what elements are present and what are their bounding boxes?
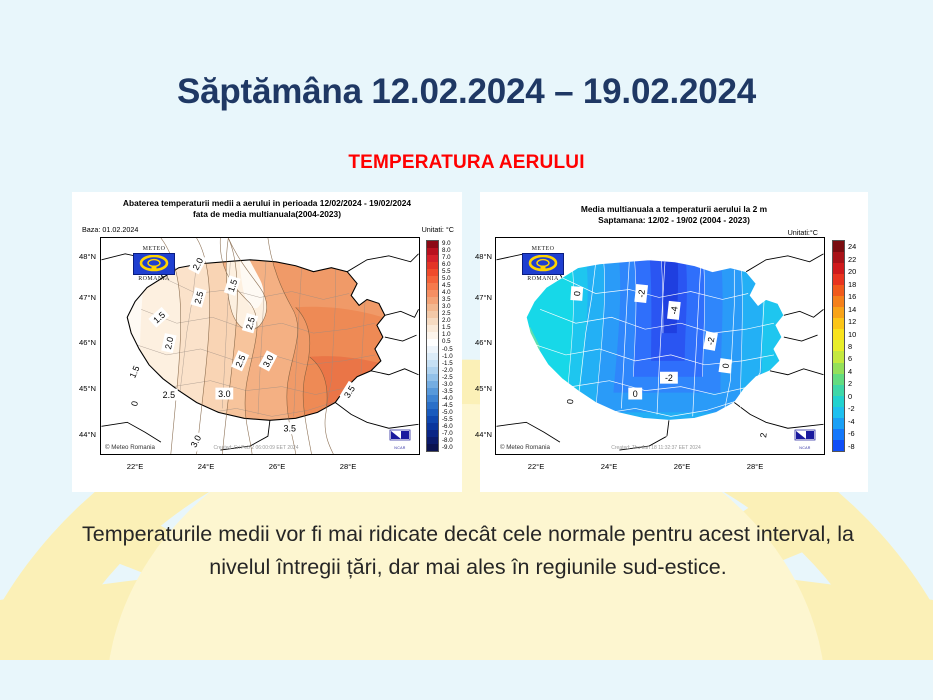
- colorbar-tick-label: -0.5: [442, 347, 453, 353]
- contour-label: 3.0: [218, 389, 230, 399]
- colorbar-swatch: [833, 385, 844, 396]
- colorbar-swatch: [427, 444, 438, 451]
- colorbar-swatch: [427, 248, 438, 255]
- colorbar-tick-label: 9.0: [442, 241, 451, 247]
- contour-label: 3.5: [284, 424, 296, 434]
- axis-y-tick-47n: 47°N: [464, 293, 492, 302]
- ncar-label: NCAR: [387, 446, 413, 450]
- logo-emblem-icon: [526, 255, 560, 273]
- colorbar-swatch: [833, 307, 844, 318]
- colorbar-tick-label: 7.0: [442, 255, 451, 261]
- colorbar-swatch: [427, 402, 438, 409]
- colorbar-swatch: [833, 374, 844, 385]
- colorbar-swatch: [833, 440, 844, 451]
- logo-emblem: [522, 253, 564, 275]
- map-created-right: Created: Thu Jan 18 11:32:37 EET 2024: [495, 445, 820, 451]
- colorbar-left: 9.08.07.06.05.55.04.54.03.53.02.52.01.51…: [426, 240, 466, 452]
- colorbar-swatch: [427, 409, 438, 416]
- colorbar-swatch: [427, 374, 438, 381]
- colorbar-tick-label: 16: [848, 293, 856, 300]
- colorbar-swatch: [833, 285, 844, 296]
- colorbar-swatch: [833, 351, 844, 362]
- axis-y-tick-45n: 45°N: [72, 384, 96, 393]
- contour-label: 0: [633, 389, 638, 399]
- contour-label: -2: [665, 373, 673, 383]
- colorbar-swatch: [833, 396, 844, 407]
- axis-x-tick-28e: 28°E: [333, 462, 363, 471]
- slide-caption: Temperaturile medii vor fi mai ridicate …: [78, 518, 858, 585]
- colorbar-tick-label: 14: [848, 306, 856, 313]
- colorbar-swatch: [833, 363, 844, 374]
- axis-y-tick-48n: 48°N: [72, 252, 96, 261]
- colorbar-tick-label: -2: [848, 405, 855, 412]
- colorbar-strip-left: [426, 240, 439, 452]
- colorbar-swatch: [427, 360, 438, 367]
- colorbar-tick-label: -6: [848, 430, 855, 437]
- colorbar-tick-label: -8: [848, 443, 855, 450]
- meteo-romania-logo: METEO ROMANIA: [516, 246, 570, 282]
- ncar-label: NCAR: [792, 446, 818, 450]
- figure-right-title-line1: Media multianuala a temperaturii aerului…: [480, 204, 868, 215]
- axis-x-tick-24e: 24°E: [191, 462, 221, 471]
- figure-left-baza: Baza: 01.02.2024: [82, 225, 138, 234]
- colorbar-swatch: [427, 325, 438, 332]
- logo-top-label: METEO: [516, 246, 570, 252]
- map-plot-area-left: 2.0 1.5 2.5 1.5: [100, 237, 420, 455]
- colorbar-tick-label: 20: [848, 268, 856, 275]
- colorbar-swatch: [427, 367, 438, 374]
- colorbar-swatch: [427, 304, 438, 311]
- axis-x-tick-24e: 24°E: [594, 462, 624, 471]
- axis-y-tick-46n: 46°N: [464, 338, 492, 347]
- axis-y-tick-44n: 44°N: [464, 430, 492, 439]
- colorbar-swatch: [427, 255, 438, 262]
- contour-label: 2.5: [163, 390, 175, 400]
- colorbar-tick-label: 22: [848, 256, 856, 263]
- colorbar-swatch: [427, 423, 438, 430]
- colorbar-right: 242220181614121086420-2-4-6-8: [832, 240, 868, 452]
- figure-right-title-line2: Saptamana: 12/02 - 19/02 (2004 - 2023): [480, 215, 868, 226]
- colorbar-tick-label: -9.0: [442, 445, 453, 451]
- figure-right-title: Media multianuala a temperaturii aerului…: [480, 204, 868, 226]
- axis-x-tick-26e: 26°E: [667, 462, 697, 471]
- colorbar-strip-right: [832, 240, 845, 452]
- figure-left-units: Unitati: °C: [422, 225, 454, 234]
- colorbar-swatch: [427, 276, 438, 283]
- figure-left-title: Abaterea temperaturii medii a aerului in…: [72, 198, 462, 220]
- colorbar-swatch: [427, 353, 438, 360]
- ncar-icon: [389, 429, 411, 441]
- colorbar-tick-label: -4: [848, 418, 855, 425]
- colorbar-swatch: [427, 416, 438, 423]
- colorbar-swatch: [427, 430, 438, 437]
- colorbar-swatch: [427, 269, 438, 276]
- colorbar-swatch: [427, 283, 438, 290]
- logo-bottom-label: ROMANIA: [516, 276, 570, 282]
- colorbar-tick-label: 12: [848, 318, 856, 325]
- colorbar-swatch: [833, 318, 844, 329]
- axis-y-tick-45n: 45°N: [464, 384, 492, 393]
- colorbar-tick-label: 4: [848, 368, 852, 375]
- colorbar-tick-label: 2: [848, 380, 852, 387]
- colorbar-tick-label: -1.0: [442, 354, 453, 360]
- colorbar-swatch: [427, 388, 438, 395]
- colorbar-swatch: [833, 407, 844, 418]
- map-plot-area-right: 0 -2 -4 -2 0: [495, 237, 825, 455]
- colorbar-tick-label: 0.5: [442, 339, 451, 345]
- colorbar-swatch: [427, 241, 438, 248]
- figure-anomaly-map: Abaterea temperaturii medii a aerului in…: [72, 192, 462, 492]
- colorbar-swatch: [427, 339, 438, 346]
- figure-climatology-map: Media multianuala a temperaturii aerului…: [480, 192, 868, 492]
- colorbar-swatch: [427, 311, 438, 318]
- logo-emblem-icon: [137, 255, 171, 273]
- axis-y-tick-47n: 47°N: [72, 293, 96, 302]
- colorbar-tick-label: 8.0: [442, 248, 451, 254]
- colorbar-tick-label: 24: [848, 243, 856, 250]
- colorbar-labels-left: 9.08.07.06.05.55.04.54.03.53.02.52.01.51…: [442, 240, 466, 452]
- axis-y-tick-48n: 48°N: [464, 252, 492, 261]
- colorbar-tick-label: -2.0: [442, 368, 453, 374]
- page-title: Săptămâna 12.02.2024 – 19.02.2024: [0, 72, 933, 112]
- contour-label: -4: [669, 306, 680, 315]
- colorbar-swatch: [427, 262, 438, 269]
- meteo-romania-logo: METEO ROMANIA: [127, 246, 181, 282]
- axis-x-tick-22e: 22°E: [120, 462, 150, 471]
- ncar-logo-left: NCAR: [387, 428, 413, 450]
- colorbar-tick-label: 10: [848, 331, 856, 338]
- slide-subtitle: TEMPERATURA AERULUI: [0, 152, 933, 174]
- axis-x-tick-28e: 28°E: [740, 462, 770, 471]
- colorbar-swatch: [833, 252, 844, 263]
- colorbar-swatch: [833, 241, 844, 252]
- colorbar-swatch: [833, 296, 844, 307]
- map-created-left: Created: Fri Feb 2 06:00:09 EET 2024: [100, 445, 415, 451]
- figure-left-title-line2: fata de media multianuala(2004-2023): [72, 209, 462, 220]
- colorbar-swatch: [427, 437, 438, 444]
- colorbar-swatch: [833, 329, 844, 340]
- colorbar-swatch: [427, 395, 438, 402]
- contour-label: -2: [636, 289, 647, 298]
- figure-right-units: Unitati:°C: [788, 228, 818, 237]
- logo-emblem: [133, 253, 175, 275]
- colorbar-tick-label: 6.0: [442, 262, 451, 268]
- colorbar-swatch: [833, 274, 844, 285]
- colorbar-tick-label: 6: [848, 355, 852, 362]
- colorbar-swatch: [427, 332, 438, 339]
- axis-x-tick-26e: 26°E: [262, 462, 292, 471]
- colorbar-swatch: [427, 290, 438, 297]
- colorbar-swatch: [427, 346, 438, 353]
- axis-y-tick-46n: 46°N: [72, 338, 96, 347]
- axis-y-tick-44n: 44°N: [72, 430, 96, 439]
- figure-left-title-line1: Abaterea temperaturii medii a aerului in…: [72, 198, 462, 209]
- colorbar-tick-label: 0: [848, 393, 852, 400]
- colorbar-swatch: [833, 340, 844, 351]
- colorbar-tick-label: -1.5: [442, 361, 453, 367]
- axis-x-tick-22e: 22°E: [521, 462, 551, 471]
- contour-label: 0: [572, 291, 582, 297]
- contour-label: 0: [565, 399, 575, 405]
- colorbar-swatch: [427, 381, 438, 388]
- colorbar-swatch: [833, 429, 844, 440]
- colorbar-swatch: [833, 418, 844, 429]
- colorbar-tick-label: 8: [848, 343, 852, 350]
- ncar-icon: [794, 429, 816, 441]
- ncar-logo-right: NCAR: [792, 428, 818, 450]
- logo-top-label: METEO: [127, 246, 181, 252]
- colorbar-swatch: [427, 318, 438, 325]
- colorbar-labels-right: 242220181614121086420-2-4-6-8: [848, 240, 872, 452]
- colorbar-swatch: [427, 297, 438, 304]
- colorbar-tick-label: 18: [848, 281, 856, 288]
- colorbar-swatch: [833, 263, 844, 274]
- logo-bottom-label: ROMANIA: [127, 276, 181, 282]
